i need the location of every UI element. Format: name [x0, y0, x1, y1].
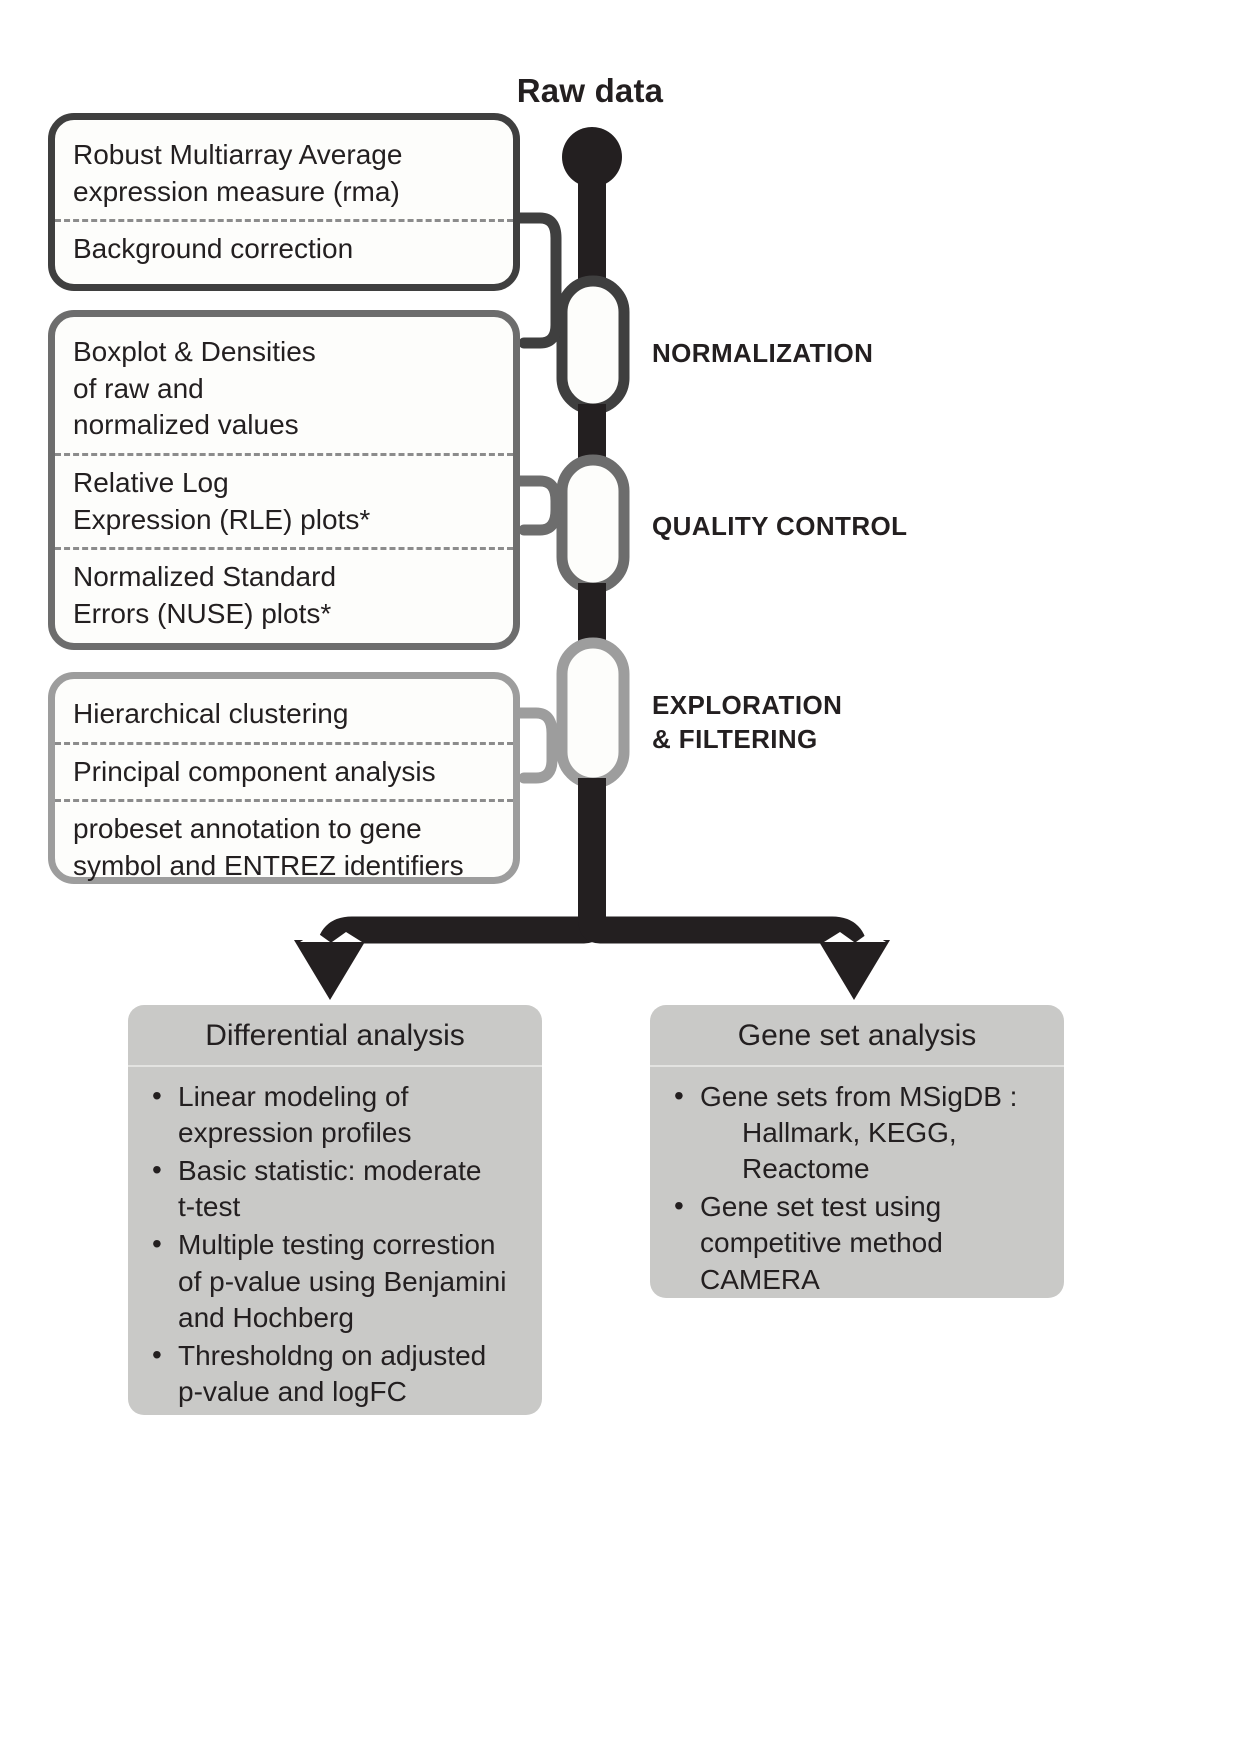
list-item-wrap: Hallmark, KEGG,	[700, 1115, 1046, 1151]
result-item-list: Linear modeling of expression profiles B…	[128, 1067, 542, 1434]
list-item: Gene sets from MSigDB :Hallmark, KEGG,Re…	[670, 1079, 1046, 1187]
arrow-head-left-icon	[294, 940, 366, 1000]
list-item-wrap: Reactome	[700, 1151, 1046, 1187]
stage-capsule-quality-control	[562, 460, 624, 588]
stage-card-segment: Robust Multiarray Average expression mea…	[55, 128, 513, 219]
connector-quality-control	[518, 481, 556, 530]
fork-right-branch	[592, 905, 854, 965]
arrow-head-right-icon	[818, 940, 890, 1000]
stage-card-segment: Normalized Standard Errors (NUSE) plots*	[55, 547, 513, 641]
stage-card-normalization[interactable]: Robust Multiarray Average expression mea…	[48, 113, 520, 291]
connector-exploration	[518, 713, 552, 778]
stage-card-segment: Hierarchical clustering	[55, 687, 513, 742]
result-item-list: Gene sets from MSigDB :Hallmark, KEGG,Re…	[650, 1067, 1064, 1322]
stage-card-segment: Principal component analysis	[55, 742, 513, 800]
stage-label-normalization: NORMALIZATION	[652, 336, 873, 370]
result-panel-gene-set-analysis[interactable]: Gene set analysis Gene sets from MSigDB …	[650, 1005, 1064, 1298]
diagram-canvas: Raw data	[0, 0, 1240, 1753]
stage-capsule-normalization	[562, 281, 624, 409]
stage-card-segment: probeset annotation to gene symbol and E…	[55, 799, 513, 893]
fork-left-branch	[330, 905, 592, 965]
list-item: Multiple testing correstion of p-value u…	[148, 1227, 524, 1335]
stage-card-quality-control[interactable]: Boxplot & Densities of raw and normalize…	[48, 310, 520, 650]
connector-normalization	[518, 218, 556, 343]
stage-label-quality-control: QUALITY CONTROL	[652, 509, 907, 543]
stage-capsule-exploration	[562, 643, 624, 783]
list-item: Linear modeling of expression profiles	[148, 1079, 524, 1151]
stage-label-exploration-filtering: EXPLORATION & FILTERING	[652, 688, 842, 757]
list-item: Gene set test using competitive method C…	[670, 1189, 1046, 1297]
stage-card-segment: Relative Log Expression (RLE) plots*	[55, 453, 513, 547]
result-panel-title: Gene set analysis	[650, 1005, 1064, 1067]
stage-card-exploration[interactable]: Hierarchical clustering Principal compon…	[48, 672, 520, 884]
stage-card-segment: Boxplot & Densities of raw and normalize…	[55, 325, 513, 453]
spine-segment-3	[578, 778, 606, 918]
list-item: Thresholdng on adjusted p-value and logF…	[148, 1338, 524, 1410]
list-item-head: Gene sets from MSigDB :	[700, 1081, 1017, 1112]
result-panel-differential-analysis[interactable]: Differential analysis Linear modeling of…	[128, 1005, 542, 1415]
result-panel-title: Differential analysis	[128, 1005, 542, 1067]
stage-card-segment: Background correction	[55, 219, 513, 277]
list-item: Basic statistic: moderate t-test	[148, 1153, 524, 1225]
